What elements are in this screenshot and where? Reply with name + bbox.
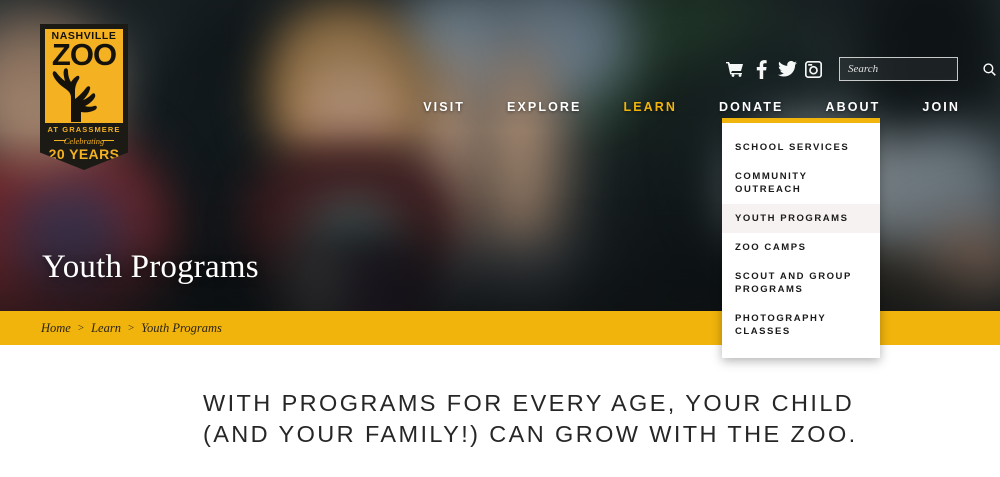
- site-logo[interactable]: NASHVILLE ZOO AT GRASSMERE Celebrating 2…: [40, 24, 128, 170]
- facebook-icon[interactable]: [748, 56, 774, 82]
- main-navigation: VISIT EXPLORE LEARN DONATE ABOUT JOIN: [402, 96, 960, 118]
- nav-item-learn[interactable]: LEARN: [602, 100, 698, 114]
- lead-heading: WITH PROGRAMS FOR EVERY AGE, YOUR CHILD …: [203, 388, 903, 450]
- shopping-cart-icon[interactable]: [722, 56, 748, 82]
- breadcrumb: Home > Learn > Youth Programs: [41, 321, 222, 336]
- dropdown-item-community-outreach[interactable]: COMMUNITY OUTREACH: [722, 162, 880, 204]
- nav-item-donate[interactable]: DONATE: [698, 100, 804, 114]
- main-content: WITH PROGRAMS FOR EVERY AGE, YOUR CHILD …: [0, 345, 1000, 477]
- logo-text-zoo: ZOO: [40, 39, 128, 70]
- search-input[interactable]: [848, 63, 982, 75]
- logo-text-celebrating: Celebrating: [40, 136, 128, 146]
- learn-dropdown-menu: SCHOOL SERVICES COMMUNITY OUTREACH YOUTH…: [722, 118, 880, 358]
- utility-bar: [722, 55, 958, 83]
- logo-shield: NASHVILLE ZOO AT GRASSMERE Celebrating 2…: [40, 24, 128, 170]
- nav-item-about[interactable]: ABOUT: [804, 100, 901, 114]
- search-submit-button[interactable]: [982, 63, 997, 76]
- breadcrumb-item-learn[interactable]: Learn: [91, 321, 121, 336]
- dropdown-item-zoo-camps[interactable]: ZOO CAMPS: [722, 233, 880, 262]
- search-icon: [983, 63, 996, 76]
- dropdown-item-photography-classes[interactable]: PHOTOGRAPHY CLASSES: [722, 304, 880, 346]
- page-root: NASHVILLE ZOO AT GRASSMERE Celebrating 2…: [0, 0, 1000, 477]
- breadcrumb-item-home[interactable]: Home: [41, 321, 71, 336]
- nav-item-join[interactable]: JOIN: [901, 100, 960, 114]
- breadcrumb-separator: >: [78, 322, 84, 334]
- logo-text-years: 20 YEARS: [40, 146, 128, 162]
- instagram-icon[interactable]: [800, 56, 826, 82]
- breadcrumb-separator: >: [128, 322, 134, 334]
- dropdown-list: SCHOOL SERVICES COMMUNITY OUTREACH YOUTH…: [722, 123, 880, 358]
- dropdown-item-school-services[interactable]: SCHOOL SERVICES: [722, 133, 880, 162]
- page-title: Youth Programs: [42, 249, 259, 286]
- twitter-icon[interactable]: [774, 56, 800, 82]
- breadcrumb-item-current: Youth Programs: [141, 321, 222, 336]
- nav-item-visit[interactable]: VISIT: [402, 100, 486, 114]
- search-box[interactable]: [839, 57, 958, 81]
- logo-text-grassmere: AT GRASSMERE: [40, 125, 128, 134]
- giraffe-silhouette-icon: [50, 68, 108, 122]
- nav-item-explore[interactable]: EXPLORE: [486, 100, 602, 114]
- dropdown-item-scout-and-group-programs[interactable]: SCOUT AND GROUP PROGRAMS: [722, 262, 880, 304]
- dropdown-item-youth-programs[interactable]: YOUTH PROGRAMS: [722, 204, 880, 233]
